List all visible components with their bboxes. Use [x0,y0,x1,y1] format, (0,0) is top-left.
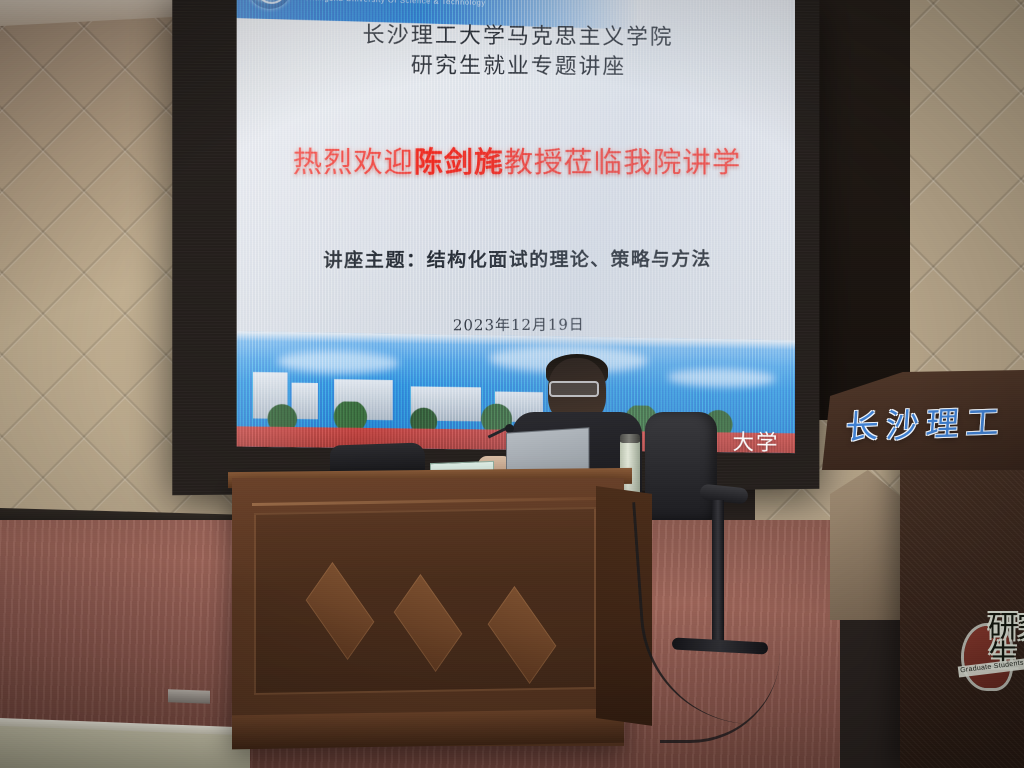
floor-outlet-icon [168,689,210,703]
presentation-slide: 长沙理工大学 Changsha University Of Science & … [237,0,795,453]
welcome-prefix: 热烈欢迎 [293,145,414,179]
speaker-glasses [549,381,599,397]
podium-trim-line [252,497,598,506]
logo-english-name: Changsha University Of Science & Technol… [304,0,486,7]
graduate-students-emblem: 研究生 Graduate Students of CSUST [958,600,1024,768]
welcome-suffix: 教授莅临我院讲学 [504,145,741,179]
speaker-podium [232,478,624,746]
slide-heading-line-2: 研究生就业专题讲座 [237,46,795,81]
lecture-hall-photo: 长沙理工大学 Changsha University Of Science & … [0,0,1024,768]
campus-caption: 大学 [732,425,779,453]
slide-welcome-title: 热烈欢迎陈剑旄教授莅临我院讲学 [237,139,795,181]
thermos-cap [620,434,640,443]
university-seal-icon [247,0,292,10]
cloud-shape [668,368,776,387]
speaker-name-highlight: 陈剑旄 [414,145,504,179]
cloud-shape [277,350,398,374]
lectern-university-text: 长沙理工 [844,395,1008,449]
podium-base-molding [232,709,624,750]
projection-screen-frame: 长沙理工大学 Changsha University Of Science & … [172,0,819,495]
slide-topic-line: 讲座主题：结构化面试的理论、策略与方法 [237,244,795,273]
